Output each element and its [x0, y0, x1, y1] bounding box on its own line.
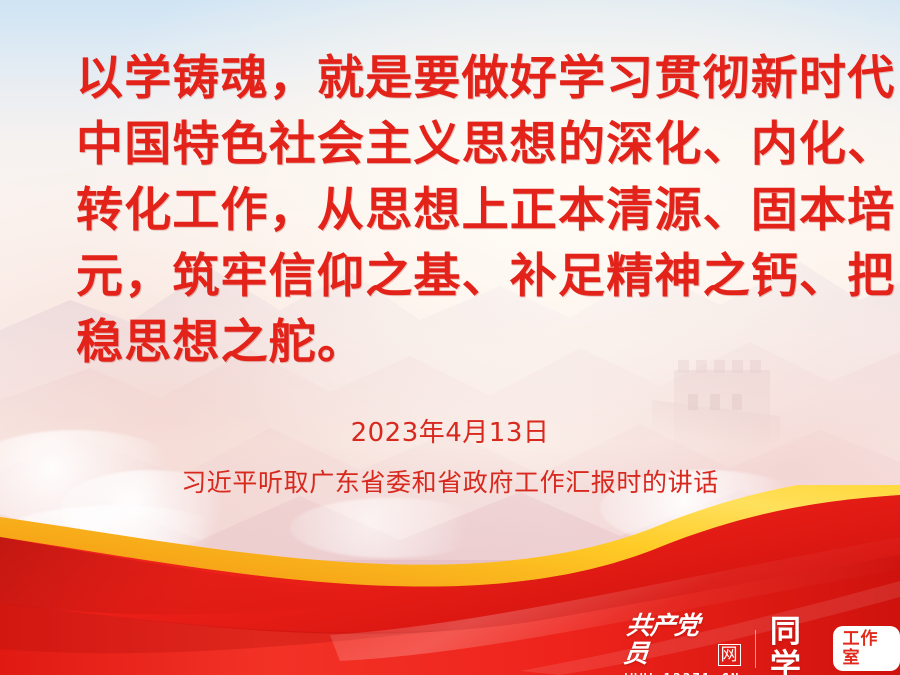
cpc-website-url: WWW.12371.CN — [625, 670, 741, 675]
quote-line-3: 转化工作，从思想上正本清源、固本培 — [76, 178, 866, 244]
poster-canvas: 以学铸魂，就是要做好学习贯彻新时代 中国特色社会主义思想的深化、内化、 转化工作… — [0, 0, 900, 675]
footer-logo-row: 共产党员 网 WWW.12371.CN 同学 工作室 — [625, 612, 900, 675]
speech-date: 2023年4月13日 — [0, 416, 900, 450]
quote-line-1: 以学铸魂，就是要做好学习贯彻新时代 — [76, 46, 866, 112]
studio-name-text: 同学 — [770, 615, 828, 675]
quote-text-block: 以学铸魂，就是要做好学习贯彻新时代 中国特色社会主义思想的深化、内化、 转化工作… — [76, 46, 866, 376]
studio-logo[interactable]: 同学 工作室 — [770, 615, 900, 675]
cpc-boxed-char: 网 — [718, 644, 741, 666]
quote-line-4: 元，筑牢信仰之基、补足精神之钙、把 — [76, 244, 866, 310]
studio-pill-label: 工作室 — [833, 626, 900, 671]
quote-line-2: 中国特色社会主义思想的深化、内化、 — [76, 112, 866, 178]
logo-divider — [755, 630, 756, 668]
cpc-member-net-logo[interactable]: 共产党员 网 WWW.12371.CN — [625, 612, 741, 675]
quote-line-5: 稳思想之舵。 — [76, 310, 866, 376]
cpc-calligraphy-text: 共产党员 — [622, 612, 717, 668]
